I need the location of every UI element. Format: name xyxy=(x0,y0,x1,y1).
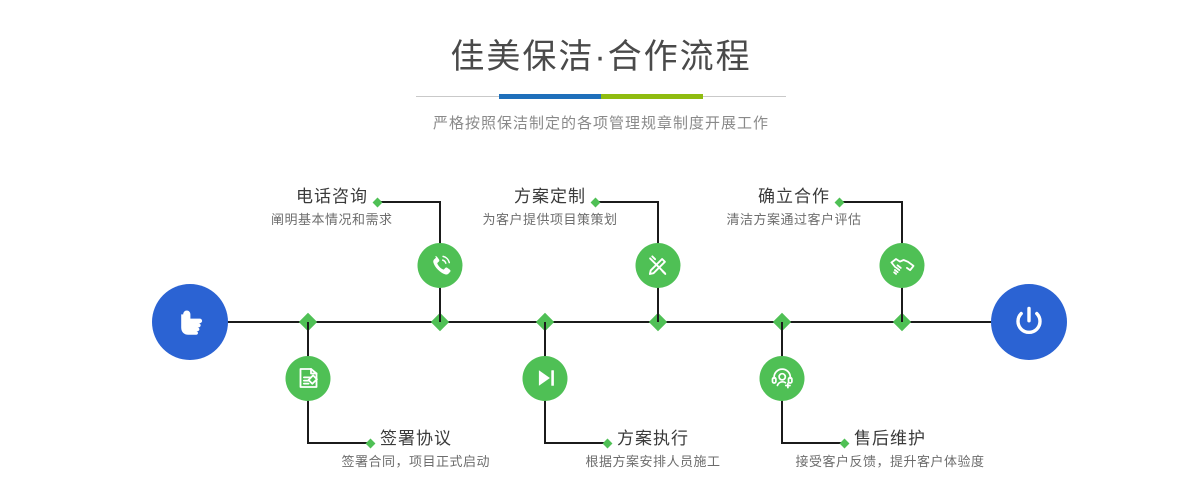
connector-horizontal xyxy=(840,201,902,203)
step-description: 清洁方案通过客户评估 xyxy=(727,210,862,230)
divider-segment-blue xyxy=(499,94,601,99)
title-divider xyxy=(416,92,786,102)
step-title: 确立合作 xyxy=(758,186,830,208)
handshake-icon xyxy=(888,251,916,279)
step-description: 接受客户反馈，提升客户体验度 xyxy=(796,452,985,472)
label-tip-diamond xyxy=(835,197,845,207)
step-description: 为客户提供项目策策划 xyxy=(483,210,618,230)
pencil-design-icon xyxy=(645,252,671,278)
page-subtitle: 严格按照保洁制定的各项管理规章制度开展工作 xyxy=(0,113,1202,135)
step-icon-circle[interactable] xyxy=(760,356,805,401)
timeline-end-endpoint xyxy=(991,284,1067,360)
customer-support-icon xyxy=(769,365,795,391)
step-icon-circle[interactable] xyxy=(636,243,681,288)
phone-call-icon xyxy=(427,252,453,278)
step-icon-circle[interactable] xyxy=(418,243,463,288)
connector-horizontal xyxy=(378,201,440,203)
connector-horizontal xyxy=(307,442,369,444)
label-tip-diamond xyxy=(366,438,376,448)
connector-horizontal xyxy=(596,201,658,203)
connector-horizontal xyxy=(781,442,843,444)
label-tip-diamond xyxy=(591,197,601,207)
pointing-hand-icon xyxy=(170,302,210,342)
step-title: 方案执行 xyxy=(617,428,689,450)
page-title: 佳美保洁·合作流程 xyxy=(0,34,1202,80)
label-tip-diamond xyxy=(840,438,850,448)
document-edit-icon xyxy=(295,365,321,391)
step-title: 电话咨询 xyxy=(296,186,368,208)
label-tip-diamond xyxy=(603,438,613,448)
flow-diagram: 佳美保洁·合作流程 严格按照保洁制定的各项管理规章制度开展工作 xyxy=(0,0,1202,502)
step-title: 售后维护 xyxy=(854,428,926,450)
step-icon-circle[interactable] xyxy=(286,356,331,401)
header: 佳美保洁·合作流程 严格按照保洁制定的各项管理规章制度开展工作 xyxy=(0,34,1202,135)
step-icon-circle[interactable] xyxy=(523,356,568,401)
connector-horizontal xyxy=(544,442,606,444)
power-icon xyxy=(1008,301,1050,343)
step-description: 根据方案安排人员施工 xyxy=(586,452,721,472)
step-icon-circle[interactable] xyxy=(880,243,925,288)
step-description: 阐明基本情况和需求 xyxy=(271,210,393,230)
step-title: 方案定制 xyxy=(514,186,586,208)
step-description: 签署合同，项目正式启动 xyxy=(342,452,491,472)
timeline-start-endpoint xyxy=(152,284,228,360)
play-skip-icon xyxy=(532,365,558,391)
label-tip-diamond xyxy=(373,197,383,207)
divider-segment-green xyxy=(601,94,703,99)
step-title: 签署协议 xyxy=(380,428,452,450)
